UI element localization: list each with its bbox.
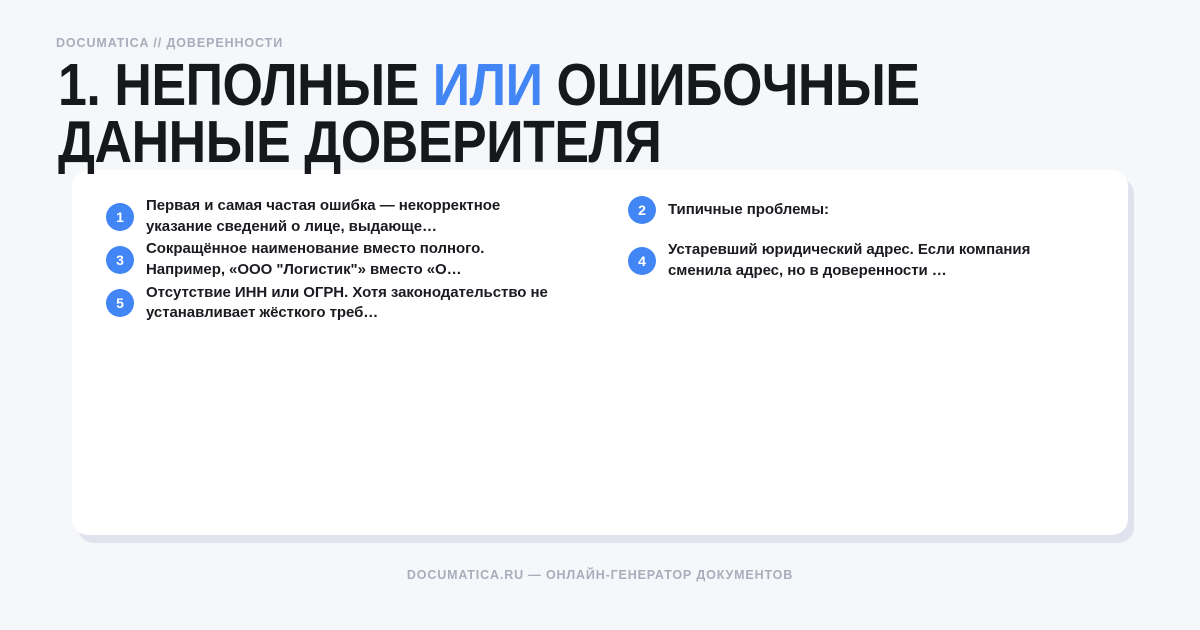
list-item-number-badge: 5 — [106, 289, 134, 317]
breadcrumb: DOCUMATICA // ДОВЕРЕННОСТИ — [56, 36, 283, 50]
list-item-text: Устаревший юридический адрес. Если компа… — [668, 240, 1094, 281]
column-left: 1 Первая и самая частая ошибка — некорре… — [106, 196, 600, 326]
page-title-part-one: 1. НЕПОЛНЫЕ — [58, 52, 433, 118]
page-title-accent: ИЛИ — [433, 52, 543, 118]
list-item: 2 Типичные проблемы: — [628, 196, 1094, 224]
list-item-number-badge: 4 — [628, 247, 656, 275]
list-item: 1 Первая и самая частая ошибка — некорре… — [106, 196, 564, 237]
page-title: 1. НЕПОЛНЫЕ ИЛИ ОШИБОЧНЫЕ ДАННЫЕ ДОВЕРИТ… — [58, 57, 1017, 171]
footer-caption: DOCUMATICA.RU — ОНЛАЙН-ГЕНЕРАТОР ДОКУМЕН… — [0, 568, 1200, 582]
list-item-number-badge: 3 — [106, 246, 134, 274]
list-item-text: Сокращённое наименование вместо полного.… — [146, 239, 564, 280]
list-item: 4 Устаревший юридический адрес. Если ком… — [628, 240, 1094, 281]
card-columns: 1 Первая и самая частая ошибка — некорре… — [106, 196, 1094, 509]
list-item: 5 Отсутствие ИНН или ОГРН. Хотя законода… — [106, 283, 564, 324]
list-item-text: Первая и самая частая ошибка — некоррект… — [146, 196, 564, 237]
list-item-text: Отсутствие ИНН или ОГРН. Хотя законодате… — [146, 283, 564, 324]
column-right: 2 Типичные проблемы: 4 Устаревший юридич… — [600, 196, 1094, 283]
list-item: 3 Сокращённое наименование вместо полног… — [106, 239, 564, 280]
list-item-number-badge: 2 — [628, 196, 656, 224]
slide-canvas: DOCUMATICA // ДОВЕРЕННОСТИ 1. НЕПОЛНЫЕ И… — [0, 0, 1200, 630]
content-card: 1 Первая и самая частая ошибка — некорре… — [72, 170, 1128, 535]
list-item-text: Типичные проблемы: — [668, 200, 829, 221]
list-item-number-badge: 1 — [106, 203, 134, 231]
